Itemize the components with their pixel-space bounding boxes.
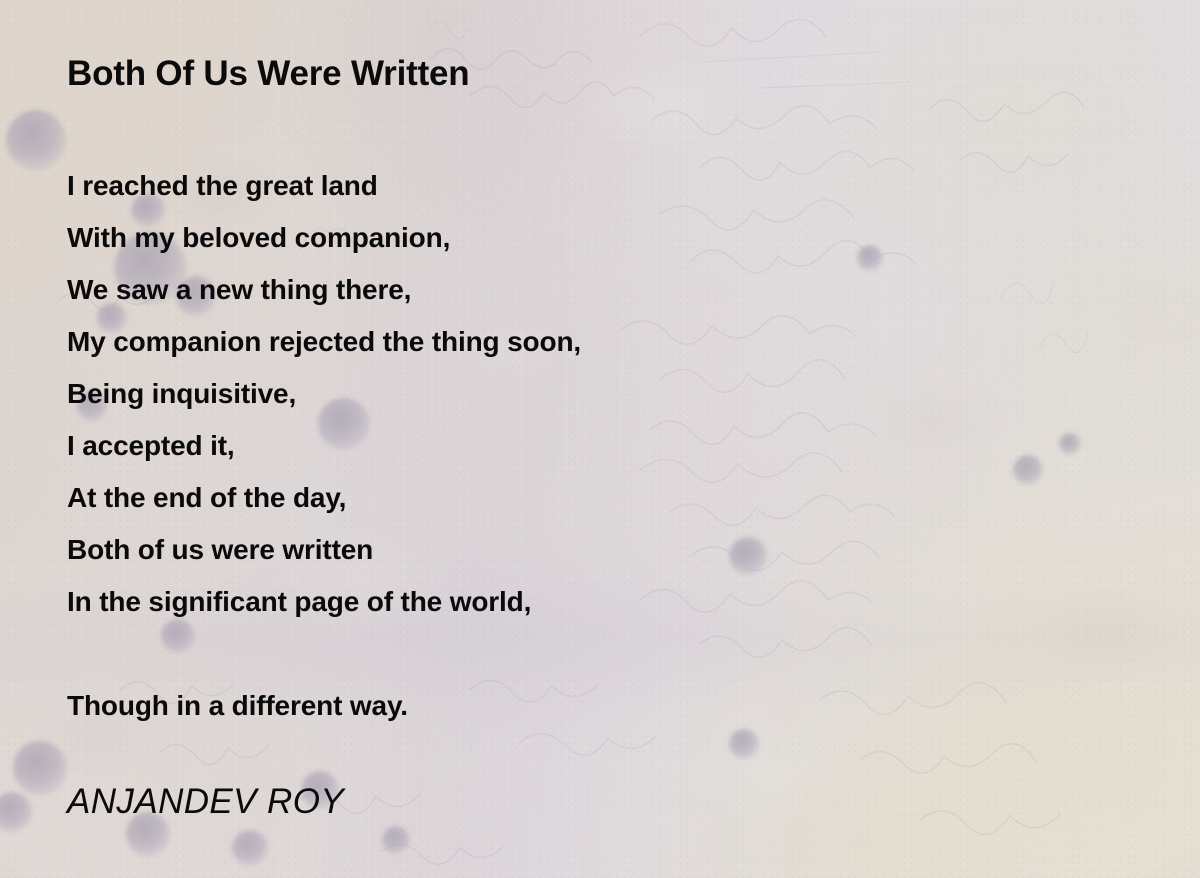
poem-title: Both Of Us Were Written xyxy=(67,52,469,96)
poem-line: Both of us were written xyxy=(67,524,1067,576)
poem-line: With my beloved companion, xyxy=(67,212,1067,264)
poem-line-blank xyxy=(67,628,1067,680)
poem-line: My companion rejected the thing soon, xyxy=(67,316,1067,368)
poem-line: I reached the great land xyxy=(67,160,1067,212)
poem-image-canvas: Both Of Us Were Written I reached the gr… xyxy=(0,0,1200,878)
poem-line: In the significant page of the world, xyxy=(67,576,1067,628)
poem-line: Being inquisitive, xyxy=(67,368,1067,420)
poem-text-block: Both Of Us Were Written I reached the gr… xyxy=(67,0,1127,878)
ink-blot xyxy=(13,741,67,795)
poem-line: I accepted it, xyxy=(67,420,1067,472)
ink-blot xyxy=(0,792,32,832)
poem-line: At the end of the day, xyxy=(67,472,1067,524)
poem-body: I reached the great landWith my beloved … xyxy=(67,160,1067,732)
poem-line: We saw a new thing there, xyxy=(67,264,1067,316)
poem-line: Though in a different way. xyxy=(67,680,1067,732)
poem-author-signature: ANJANDEV ROY xyxy=(67,780,344,824)
ink-blot xyxy=(6,110,66,170)
